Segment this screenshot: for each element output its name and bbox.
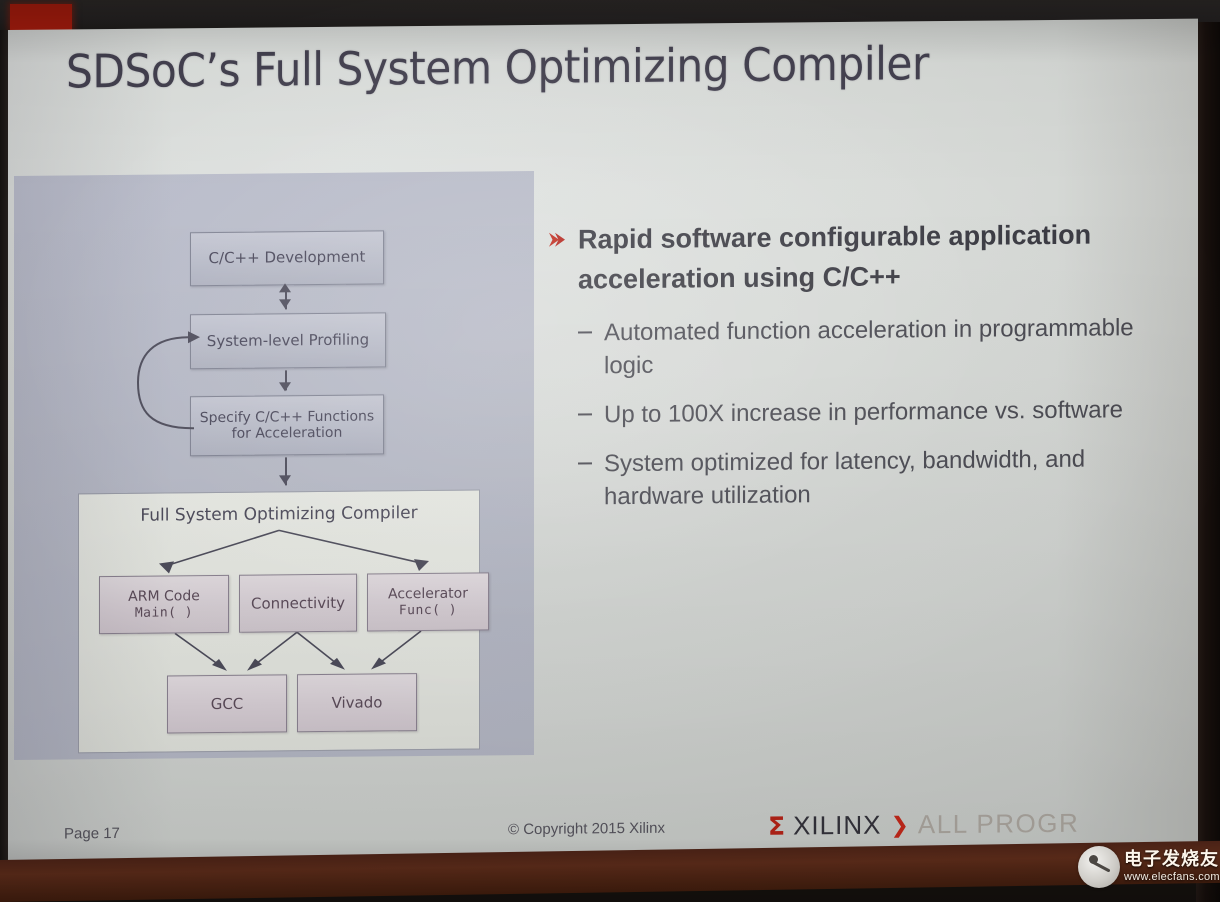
chevron-right-icon: ❯ [890, 814, 908, 836]
accelerator-func-label: Func( ) [399, 602, 457, 618]
copyright-notice: © Copyright 2015 Xilinx [508, 820, 665, 839]
flow-box-specify-line2: for Acceleration [232, 425, 343, 442]
compiler-panel-title: Full System Optimizing Compiler [79, 502, 479, 526]
dash-icon [578, 331, 592, 333]
sub-bullet-3-text: System optimized for latency, bandwidth,… [604, 446, 1085, 511]
wall-right-edge [1196, 22, 1220, 902]
accelerator-label: Accelerator [388, 585, 468, 603]
feedback-loop-arrow [132, 324, 202, 441]
watermark-url: www.elecfans.com [1124, 872, 1220, 883]
vivado-label: Vivado [332, 693, 383, 711]
sub-bullet-1-text: Automated function acceleration in progr… [604, 314, 1134, 379]
watermark-chinese-text: 电子发烧友 [1124, 851, 1220, 869]
arrowhead-down-icon [279, 382, 291, 391]
tool-box-gcc: GCC [167, 674, 287, 733]
diagram-panel: C/C++ Development System-level Profiling… [14, 171, 534, 760]
wall-red-marker [10, 4, 72, 30]
projection-screen: SDSoC’s Full System Optimizing Compiler … [8, 19, 1198, 876]
page-title: SDSoC’s Full System Optimizing Compiler [66, 39, 986, 96]
stage-box-arm-code: ARM Code Main( ) [99, 575, 229, 634]
xilinx-wordmark: XILINX [793, 810, 881, 842]
arrowhead-down-icon [279, 299, 291, 308]
arrowhead-down-icon [279, 475, 291, 484]
xilinx-tagline: ALL PROGR [918, 808, 1079, 841]
connectivity-label: Connectivity [251, 594, 345, 613]
flow-box-c-development: C/C++ Development [190, 230, 384, 286]
flow-box-specify-line1: Specify C/C++ Functions [200, 408, 374, 426]
dash-icon [578, 463, 592, 465]
sub-bullet-1: Automated function acceleration in progr… [578, 311, 1174, 383]
xilinx-logo: Σ XILINX ❯ ALL PROGR [768, 808, 1079, 842]
slide-content: SDSoC’s Full System Optimizing Compiler … [8, 19, 1198, 876]
flow-box-system-level-profiling: System-level Profiling [190, 312, 386, 369]
arrowhead-up-icon [279, 283, 291, 292]
stage-box-connectivity: Connectivity [239, 574, 357, 633]
flow-box-specify-functions: Specify C/C++ Functions for Acceleration [190, 394, 384, 456]
xilinx-sigma-mark-icon: Σ [768, 812, 784, 841]
gcc-label: GCC [211, 695, 244, 713]
sub-bullet-3: System optimized for latency, bandwidth,… [578, 442, 1174, 514]
slide-photograph: SDSoC’s Full System Optimizing Compiler … [0, 0, 1220, 902]
tool-box-vivado: Vivado [297, 673, 417, 732]
site-watermark: 电子发烧友 www.elecfans.com [1078, 838, 1218, 896]
stage-box-accelerator: Accelerator Func( ) [367, 572, 489, 631]
full-system-optimizing-compiler-panel: Full System Optimizing Compiler [78, 489, 480, 753]
arm-main-label: Main( ) [135, 605, 193, 621]
primary-bullet-text: Rapid software configurable application … [578, 220, 1091, 295]
watermark-logo-icon [1078, 846, 1120, 888]
primary-bullet: Rapid software configurable application … [544, 215, 1174, 301]
sub-bullet-2-text: Up to 100X increase in performance vs. s… [604, 396, 1123, 428]
page-number: Page 17 [64, 825, 120, 843]
arm-code-label: ARM Code [128, 588, 200, 605]
sub-bullet-2: Up to 100X increase in performance vs. s… [578, 393, 1174, 432]
sub-bullet-list: Automated function acceleration in progr… [544, 311, 1174, 515]
chevron-right-icon [546, 230, 566, 250]
dash-icon [578, 413, 592, 415]
bullet-list: Rapid software configurable application … [544, 215, 1174, 531]
